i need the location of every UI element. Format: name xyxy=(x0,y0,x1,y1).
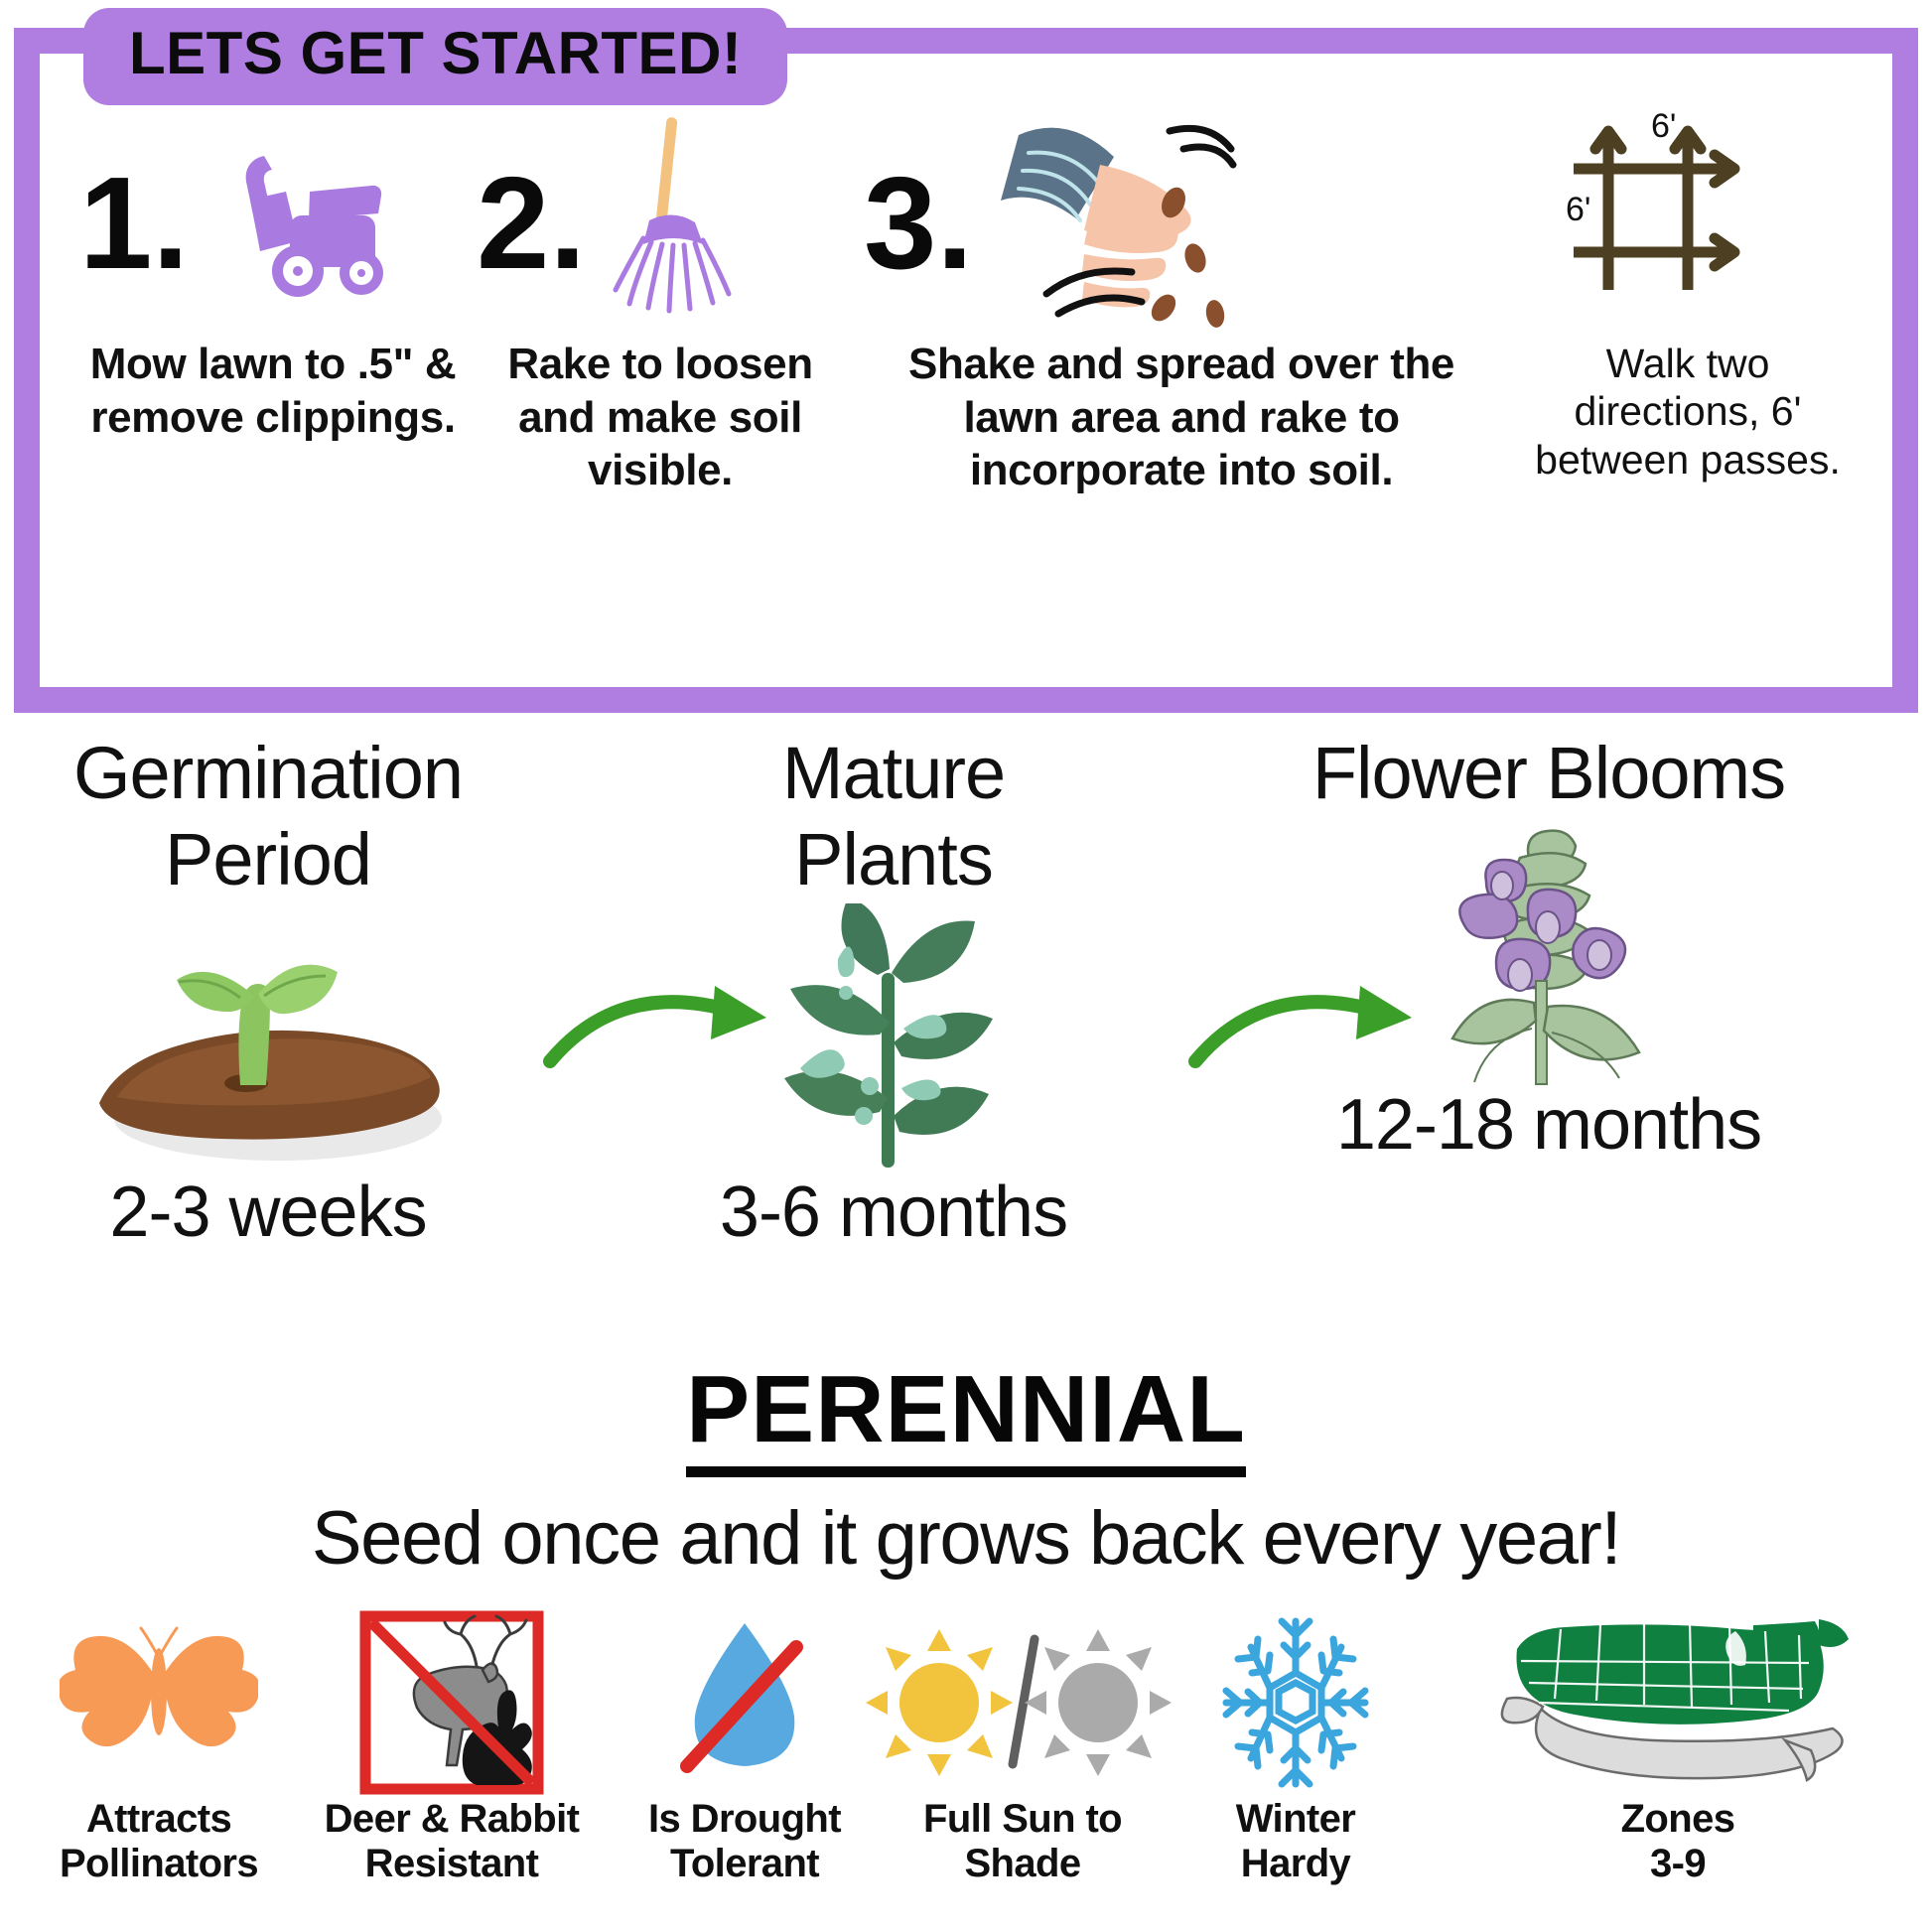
lifecycle-section: Germination Period 2-3 weeks xyxy=(0,730,1932,1345)
step-1-number: 1. xyxy=(79,158,189,289)
svg-text:6': 6' xyxy=(1651,107,1676,145)
no-water-drop-icon xyxy=(596,1608,894,1797)
perennial-title: PERENNIAL xyxy=(686,1355,1246,1477)
step-2-header: 2. xyxy=(477,109,844,338)
seedling-in-soil-icon xyxy=(10,903,526,1172)
lifecycle-stage-1-duration: 2-3 weeks xyxy=(10,1172,526,1253)
feature-deer-rabbit-resistant: Deer & Rabbit Resistant xyxy=(288,1608,616,1886)
feature-4-label-line1: Full Sun to xyxy=(854,1797,1191,1842)
feature-2-label-line1: Deer & Rabbit xyxy=(288,1797,616,1842)
feature-drought-tolerant: Is Drought Tolerant xyxy=(596,1608,894,1886)
sun-shade-icon xyxy=(854,1608,1191,1797)
infographic-page: LETS GET STARTED! 1. xyxy=(0,0,1932,1932)
usa-zone-map-icon xyxy=(1420,1608,1932,1797)
perennial-section: PERENNIAL Seed once and it grows back ev… xyxy=(0,1355,1932,1582)
step-2-caption: Rake to loosen and make soil visible. xyxy=(477,338,844,497)
purple-flower-icon xyxy=(1281,816,1817,1084)
no-deer-rabbit-icon xyxy=(288,1608,616,1797)
step-1: 1. xyxy=(79,109,467,444)
feature-1-label-line1: Attracts xyxy=(10,1797,308,1842)
lawn-mower-icon xyxy=(195,144,393,303)
svg-text:6': 6' xyxy=(1566,191,1590,228)
feature-6-label-line2: 3-9 xyxy=(1420,1842,1932,1886)
step-3-number: 3. xyxy=(864,158,973,289)
feature-3-label-line1: Is Drought xyxy=(596,1797,894,1842)
perennial-subtitle: Seed once and it grows back every year! xyxy=(0,1495,1932,1582)
leafy-plant-icon xyxy=(675,903,1112,1172)
feature-attracts-pollinators: Attracts Pollinators xyxy=(10,1608,308,1886)
lifecycle-stage-germination: Germination Period 2-3 weeks xyxy=(10,730,526,1253)
step-3-header: 3. xyxy=(864,109,1499,338)
step-3-caption: Shake and spread over the lawn area and … xyxy=(864,338,1499,497)
lifecycle-stage-3-duration: 12-18 months xyxy=(1281,1084,1817,1166)
snowflake-icon xyxy=(1152,1608,1440,1797)
lifecycle-stage-2-title: Mature Plants xyxy=(675,730,1112,903)
features-row: Attracts Pollinators xyxy=(0,1608,1932,1932)
lifecycle-stage-1-title: Germination Period xyxy=(10,730,526,903)
feature-full-sun-to-shade: Full Sun to Shade xyxy=(854,1608,1191,1886)
feature-5-label-line2: Hardy xyxy=(1152,1842,1440,1886)
get-started-badge-label: LETS GET STARTED! xyxy=(129,20,742,86)
step-1-caption: Mow lawn to .5" & remove clippings. xyxy=(79,338,467,444)
feature-3-label-line2: Tolerant xyxy=(596,1842,894,1886)
step-3: 3. xyxy=(864,109,1499,497)
grid-pattern-icon: 6' 6' xyxy=(1564,101,1812,330)
step-2-number: 2. xyxy=(477,158,586,289)
walk-pattern-diagram: 6' 6' Walk two directions, 6' between pa… xyxy=(1509,101,1866,483)
butterfly-icon xyxy=(10,1608,308,1797)
get-started-badge: LETS GET STARTED! xyxy=(83,8,787,105)
step-2: 2. xyxy=(477,109,844,497)
rake-icon xyxy=(600,117,749,331)
feature-2-label-line2: Resistant xyxy=(288,1842,616,1886)
feature-zones: Zones 3-9 xyxy=(1420,1608,1932,1886)
step-1-header: 1. xyxy=(79,109,467,338)
feature-5-label-line1: Winter xyxy=(1152,1797,1440,1842)
feature-4-label-line2: Shade xyxy=(854,1842,1191,1886)
feature-1-label-line2: Pollinators xyxy=(10,1842,308,1886)
walk-pattern-caption: Walk two directions, 6' between passes. xyxy=(1509,340,1866,483)
lifecycle-stage-mature: Mature Plants xyxy=(675,730,1112,1253)
lifecycle-stage-3-title: Flower Blooms xyxy=(1281,730,1817,816)
get-started-section: LETS GET STARTED! 1. xyxy=(0,0,1932,730)
feature-winter-hardy: Winter Hardy xyxy=(1152,1608,1440,1886)
feature-6-label-line1: Zones xyxy=(1420,1797,1932,1842)
steps-row: 1. xyxy=(40,109,1866,665)
lifecycle-stage-bloom: Flower Blooms xyxy=(1281,730,1817,1166)
lifecycle-stage-2-duration: 3-6 months xyxy=(675,1172,1112,1253)
hand-spreading-seed-icon xyxy=(989,109,1287,338)
